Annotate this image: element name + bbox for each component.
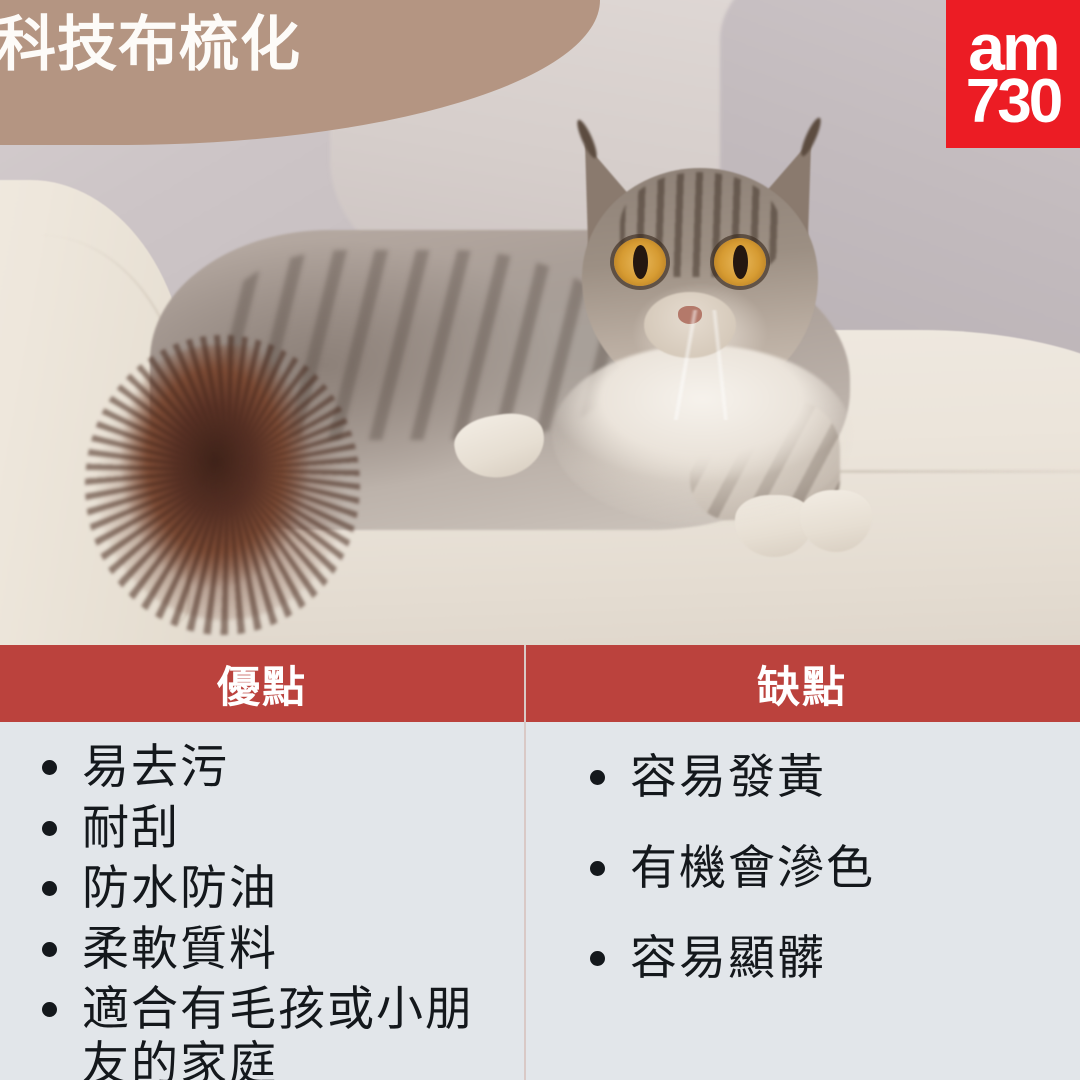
am730-logo[interactable]: am 730 (946, 0, 1080, 148)
cat-pupil (733, 245, 748, 279)
list-item: 容易發黃 (588, 750, 1066, 805)
list-item: 容易顯髒 (588, 931, 1066, 986)
comparison-table-header: 優點 缺點 (0, 645, 1080, 722)
column-header-cons: 缺點 (524, 645, 1080, 722)
cat-eye-right (714, 238, 766, 286)
column-divider (524, 645, 526, 1080)
logo-text-730: 730 (966, 76, 1060, 128)
cat-eye-left (614, 238, 666, 286)
column-header-pros: 優點 (0, 645, 524, 722)
list-item: 耐刮 (40, 801, 510, 856)
page-title: 科技布梳化 (0, 12, 301, 78)
pros-column: 易去污 耐刮 防水防油 柔軟質料 適合有毛孩或小朋友的家庭 (0, 722, 524, 1080)
list-item: 易去污 (40, 740, 510, 795)
cat-head (560, 110, 840, 410)
list-item: 柔軟質料 (40, 922, 510, 977)
pros-list: 易去污 耐刮 防水防油 柔軟質料 適合有毛孩或小朋友的家庭 (40, 740, 510, 1080)
comparison-table-body: 易去污 耐刮 防水防油 柔軟質料 適合有毛孩或小朋友的家庭 容易發黃 有機會滲色… (0, 722, 1080, 1080)
cons-column: 容易發黃 有機會滲色 容易顯髒 (524, 722, 1080, 1080)
cons-list: 容易發黃 有機會滲色 容易顯髒 (588, 750, 1066, 986)
cat-pupil (633, 245, 648, 279)
list-item: 有機會滲色 (588, 841, 1066, 896)
cat-tail-fur (85, 335, 360, 635)
list-item: 適合有毛孩或小朋友的家庭 (40, 982, 510, 1080)
list-item: 防水防油 (40, 861, 510, 916)
infographic-card: 科技布梳化 am 730 優點 缺點 易去污 耐刮 防水防油 柔軟質料 適合有毛… (0, 0, 1080, 1080)
cat-whiskers (538, 310, 868, 420)
